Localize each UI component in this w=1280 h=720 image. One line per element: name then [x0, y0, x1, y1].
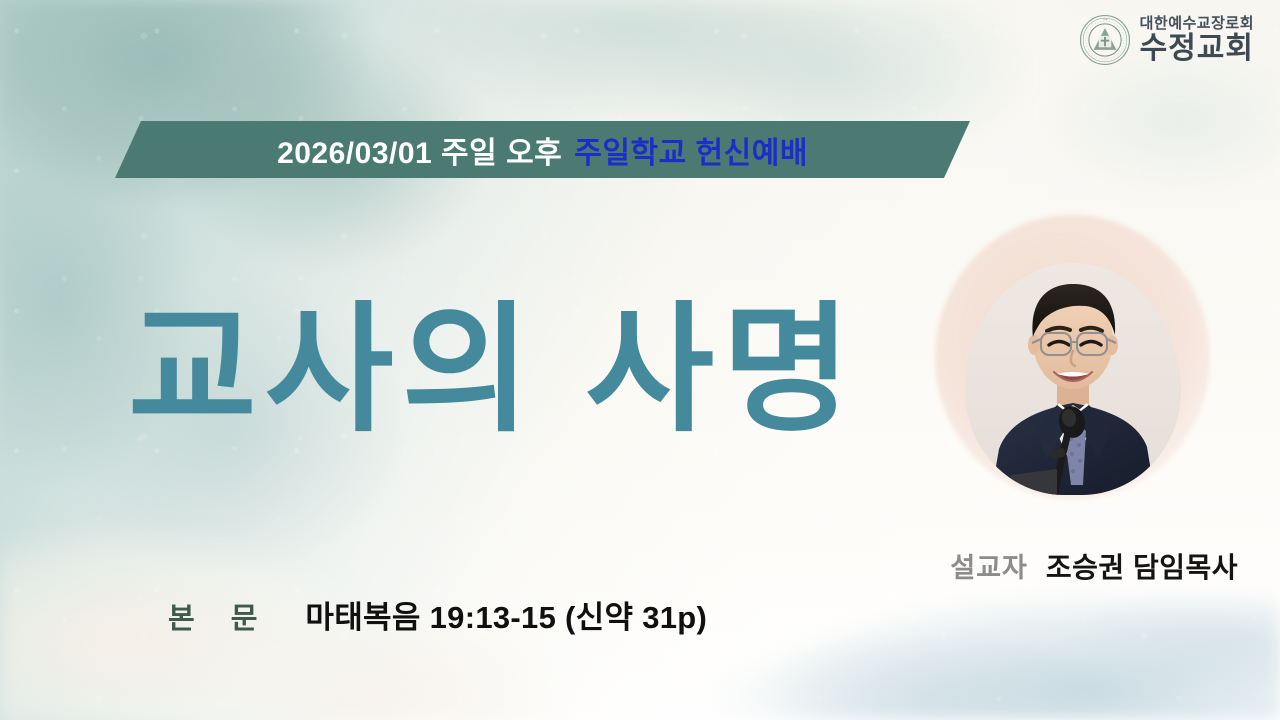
banner-service-label: 주일학교 헌신예배 [574, 128, 808, 172]
logo-church-name: 수정교회 [1140, 34, 1254, 64]
scripture-reference: 마태복음 19:13-15 (신약 31p) [305, 592, 707, 637]
service-banner-text: 2026/03/01 주일 오후 주일학교 헌신예배 [277, 128, 808, 172]
logo-denomination: 대한예수교장로회 [1140, 16, 1254, 31]
sermon-title-slide: THE 대한예수교장로회 수정교회 2026/03/01 주일 오후 주일학교 … [0, 0, 1280, 720]
church-logo-text: 대한예수교장로회 수정교회 [1140, 16, 1254, 64]
banner-date-label: 2026/03/01 주일 오후 [277, 128, 562, 172]
scripture-reference-row: 본 문 마태복음 19:13-15 (신약 31p) [168, 592, 707, 637]
church-seal-icon: THE [1079, 14, 1131, 66]
svg-text:THE: THE [1102, 17, 1107, 21]
preacher-name: 조승권 담임목사 [1046, 546, 1238, 586]
sermon-title: 교사의 사명 [128, 296, 859, 443]
scripture-label: 본 문 [168, 595, 271, 637]
church-logo: THE 대한예수교장로회 수정교회 [1079, 14, 1254, 66]
service-banner: 2026/03/01 주일 오후 주일학교 헌신예배 [115, 121, 970, 178]
preacher-credit: 설교자 조승권 담임목사 [950, 546, 1238, 586]
preacher-label: 설교자 [950, 546, 1028, 585]
preacher-portrait [935, 215, 1210, 500]
